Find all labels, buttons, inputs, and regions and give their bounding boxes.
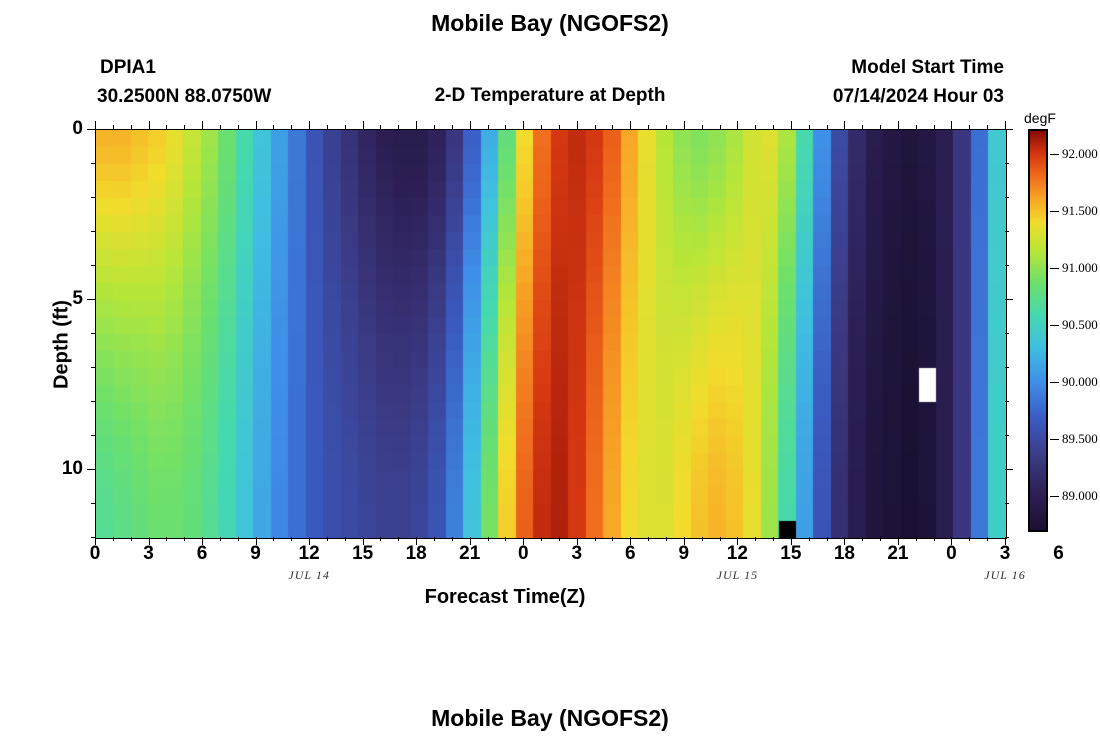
- colorbar-tick: [1050, 211, 1059, 212]
- y-axis-tick: [1005, 503, 1009, 504]
- y-axis-tick-label: 5: [72, 288, 83, 310]
- x-axis-tick: [702, 125, 703, 129]
- x-axis-tick-label: 9: [250, 543, 261, 565]
- x-axis-tick: [95, 121, 96, 129]
- x-axis-tick: [398, 125, 399, 129]
- x-axis-tick-label: 12: [727, 543, 748, 565]
- colorbar-tick: [1050, 382, 1059, 383]
- x-axis-tick: [862, 125, 863, 129]
- heatmap-plot-area: [95, 129, 1007, 539]
- x-axis-tick-label: 9: [679, 543, 690, 565]
- x-axis-tick: [791, 121, 792, 129]
- x-axis-tick: [131, 125, 132, 129]
- x-axis-tick: [827, 537, 828, 541]
- x-axis-tick: [202, 121, 203, 129]
- x-axis-tick: [505, 537, 506, 541]
- x-axis-tick: [809, 537, 810, 541]
- x-axis-tick: [363, 121, 364, 129]
- x-axis-tick: [773, 125, 774, 129]
- x-axis-tick: [434, 537, 435, 541]
- y-axis-tick: [1005, 197, 1009, 198]
- y-axis-tick: [1005, 537, 1009, 538]
- x-axis-tick: [470, 121, 471, 129]
- x-axis-tick-label: 6: [1053, 543, 1064, 565]
- x-axis-tick: [880, 125, 881, 129]
- x-axis-tick-label: 18: [834, 543, 855, 565]
- x-axis-tick: [720, 537, 721, 541]
- x-axis-tick: [488, 537, 489, 541]
- y-axis-tick: [1005, 435, 1009, 436]
- x-axis-tick: [220, 537, 221, 541]
- page-title: Mobile Bay (NGOFS2): [0, 10, 1100, 37]
- x-axis-tick: [559, 537, 560, 541]
- x-axis-tick: [827, 125, 828, 129]
- y-axis-tick: [1005, 163, 1009, 164]
- x-axis-tick-label: 3: [1000, 543, 1011, 565]
- x-axis-tick: [345, 537, 346, 541]
- y-axis-title: Depth (ft): [51, 265, 74, 425]
- x-axis-tick: [934, 125, 935, 129]
- x-axis-tick: [969, 537, 970, 541]
- x-axis-title: Forecast Time(Z): [0, 586, 1010, 609]
- x-axis-tick: [755, 537, 756, 541]
- x-axis-tick: [380, 125, 381, 129]
- colorbar-tick-label: 89.000: [1062, 488, 1098, 504]
- station-id-label: DPIA1: [100, 57, 156, 79]
- x-axis-tick: [273, 125, 274, 129]
- y-axis-tick: [87, 129, 95, 130]
- x-axis-tick: [166, 537, 167, 541]
- x-axis-day-label: JUL 14: [288, 568, 329, 583]
- x-axis-tick: [452, 537, 453, 541]
- x-axis-tick: [916, 125, 917, 129]
- x-axis-tick: [380, 537, 381, 541]
- colorbar-title: degF: [1024, 110, 1056, 126]
- x-axis-tick: [220, 125, 221, 129]
- x-axis-tick: [488, 125, 489, 129]
- colorbar-tick: [1050, 154, 1059, 155]
- x-axis-tick: [934, 537, 935, 541]
- x-axis-tick-label: 3: [143, 543, 154, 565]
- x-axis-tick: [113, 125, 114, 129]
- x-axis-tick: [291, 125, 292, 129]
- x-axis-tick: [184, 537, 185, 541]
- x-axis-day-label: JUL 15: [717, 568, 758, 583]
- x-axis-tick: [238, 125, 239, 129]
- x-axis-tick: [595, 537, 596, 541]
- colorbar-gradient: [1030, 131, 1046, 530]
- y-axis-tick: [1005, 469, 1013, 470]
- x-axis-tick: [987, 125, 988, 129]
- x-axis-tick: [648, 125, 649, 129]
- x-axis-tick: [755, 125, 756, 129]
- x-axis-tick: [273, 537, 274, 541]
- x-axis-tick: [184, 125, 185, 129]
- y-axis-tick: [1005, 401, 1009, 402]
- x-axis-tick: [541, 537, 542, 541]
- y-axis-tick: [1005, 129, 1013, 130]
- x-axis-tick: [666, 537, 667, 541]
- x-axis-tick: [1005, 121, 1006, 129]
- x-axis-tick-label: 6: [625, 543, 636, 565]
- x-axis-tick: [345, 125, 346, 129]
- x-axis-tick: [720, 125, 721, 129]
- x-axis-tick: [844, 121, 845, 129]
- temperature-heatmap: [96, 130, 1006, 538]
- x-axis-tick: [666, 125, 667, 129]
- x-axis-tick-label: 18: [406, 543, 427, 565]
- y-axis-tick: [91, 265, 95, 266]
- x-axis-tick-label: 0: [90, 543, 101, 565]
- x-axis-tick: [113, 537, 114, 541]
- x-axis-tick: [291, 537, 292, 541]
- x-axis-tick: [416, 121, 417, 129]
- x-axis-tick: [595, 125, 596, 129]
- x-axis-tick-label: 3: [571, 543, 582, 565]
- x-axis-tick: [862, 537, 863, 541]
- x-axis-tick-label: 21: [459, 543, 480, 565]
- y-axis-tick-label: 10: [62, 458, 83, 480]
- x-axis-tick: [648, 537, 649, 541]
- x-axis-tick: [505, 125, 506, 129]
- y-axis-tick: [91, 197, 95, 198]
- x-axis-tick-label: 15: [780, 543, 801, 565]
- y-axis-tick: [1005, 299, 1013, 300]
- x-axis-tick: [612, 537, 613, 541]
- colorbar-tick-label: 89.500: [1062, 431, 1098, 447]
- x-axis-tick: [898, 121, 899, 129]
- x-axis-tick: [969, 125, 970, 129]
- colorbar-tick-label: 90.500: [1062, 317, 1098, 333]
- x-axis-tick: [256, 121, 257, 129]
- y-axis-tick: [91, 231, 95, 232]
- x-axis-tick: [987, 537, 988, 541]
- x-axis-tick: [702, 537, 703, 541]
- x-axis-tick: [327, 537, 328, 541]
- y-axis-tick: [1005, 333, 1009, 334]
- colorbar: [1028, 129, 1048, 532]
- x-axis-tick: [131, 537, 132, 541]
- x-axis-day-label: JUL 16: [984, 568, 1025, 583]
- x-axis-tick: [916, 537, 917, 541]
- x-axis-tick: [149, 121, 150, 129]
- y-axis-tick: [91, 503, 95, 504]
- x-axis-tick: [577, 121, 578, 129]
- colorbar-tick-label: 91.000: [1062, 260, 1098, 276]
- x-axis-tick: [559, 125, 560, 129]
- y-axis-tick: [1005, 367, 1009, 368]
- colorbar-tick: [1050, 439, 1059, 440]
- x-axis-tick: [737, 121, 738, 129]
- x-axis-tick: [327, 125, 328, 129]
- model-start-time-value: 07/14/2024 Hour 03: [833, 86, 1004, 108]
- y-axis-tick: [91, 333, 95, 334]
- x-axis-tick: [541, 125, 542, 129]
- x-axis-tick-label: 0: [946, 543, 957, 565]
- y-axis-tick: [91, 401, 95, 402]
- x-axis-tick: [309, 121, 310, 129]
- colorbar-tick: [1050, 496, 1059, 497]
- y-axis-tick: [91, 435, 95, 436]
- y-axis-tick-label: 0: [72, 118, 83, 140]
- x-axis-tick: [951, 121, 952, 129]
- x-axis-tick: [612, 125, 613, 129]
- x-axis-tick-label: 21: [887, 543, 908, 565]
- colorbar-tick-label: 91.500: [1062, 203, 1098, 219]
- x-axis-tick: [434, 125, 435, 129]
- x-axis-tick: [684, 121, 685, 129]
- x-axis-tick-label: 6: [197, 543, 208, 565]
- bottom-title: Mobile Bay (NGOFS2): [0, 705, 1100, 732]
- colorbar-tick-label: 90.000: [1062, 374, 1098, 390]
- y-axis-tick: [91, 367, 95, 368]
- colorbar-tick-label: 92.000: [1062, 146, 1098, 162]
- y-axis-tick: [1005, 231, 1009, 232]
- x-axis-tick: [773, 537, 774, 541]
- x-axis-tick: [880, 537, 881, 541]
- x-axis-tick: [523, 121, 524, 129]
- colorbar-tick: [1050, 325, 1059, 326]
- colorbar-tick: [1050, 268, 1059, 269]
- x-axis-tick-label: 15: [352, 543, 373, 565]
- y-axis-tick: [87, 299, 95, 300]
- x-axis-tick-label: 0: [518, 543, 529, 565]
- x-axis-tick: [238, 537, 239, 541]
- y-axis-tick: [1005, 265, 1009, 266]
- x-axis-tick: [398, 537, 399, 541]
- x-axis-tick: [452, 125, 453, 129]
- x-axis-tick: [166, 125, 167, 129]
- y-axis-tick: [87, 469, 95, 470]
- x-axis-tick-label: 12: [299, 543, 320, 565]
- model-start-time-label: Model Start Time: [851, 57, 1004, 79]
- y-axis-tick: [91, 537, 95, 538]
- x-axis-tick: [630, 121, 631, 129]
- x-axis-tick: [809, 125, 810, 129]
- y-axis-tick: [91, 163, 95, 164]
